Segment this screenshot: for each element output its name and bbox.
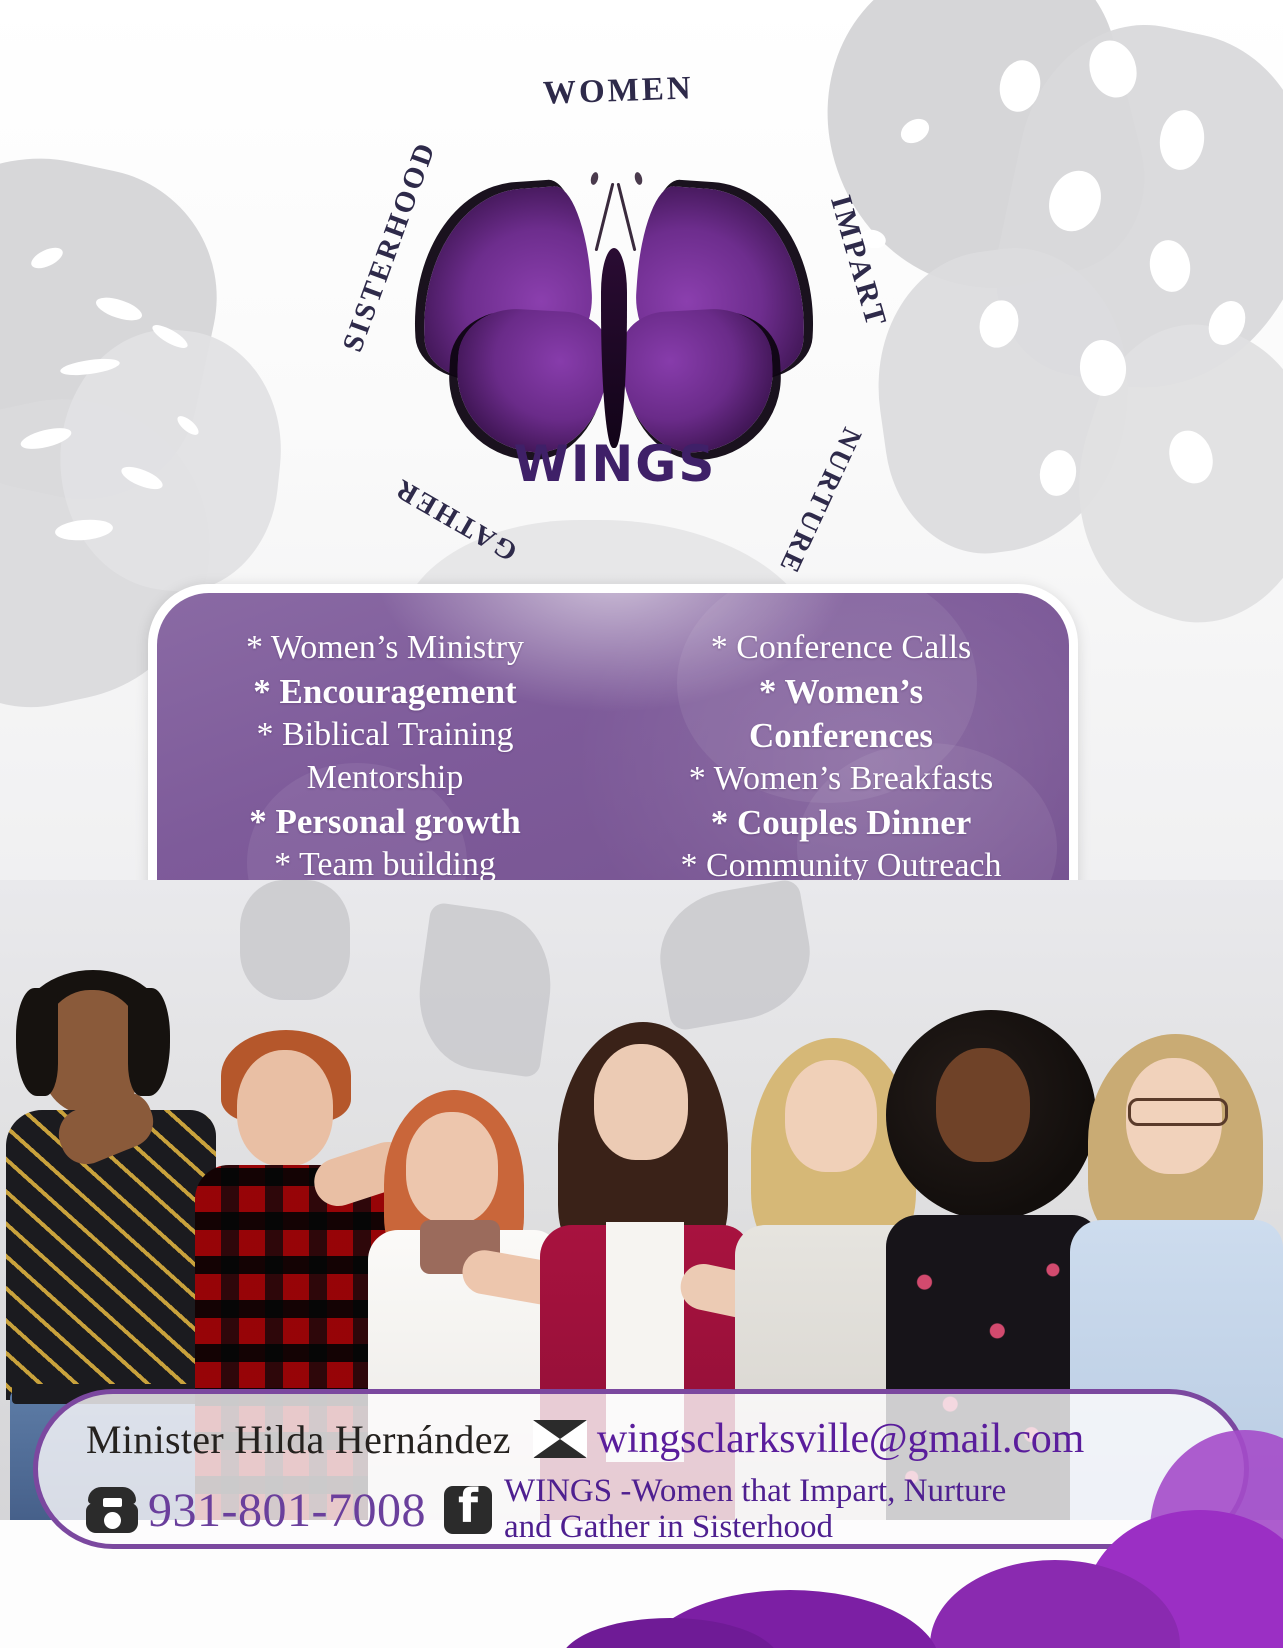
service-item: * Personal growth — [157, 800, 613, 844]
email-address[interactable]: wingsclarksville@gmail.com — [597, 1415, 1084, 1463]
service-item: Conferences — [613, 714, 1069, 758]
phone-number[interactable]: 931-801-7008 — [148, 1483, 426, 1538]
flyer-canvas: WOMEN IMPART NURTURE GATHER SISTERHOOD W… — [0, 0, 1283, 1648]
butterfly-icon — [415, 190, 815, 450]
envelope-icon — [533, 1420, 587, 1458]
service-item: * Conference Calls — [613, 627, 1069, 670]
facebook-line-1: WINGS -Women that Impart, Nurture — [504, 1473, 1006, 1509]
service-item: * Encouragement — [157, 670, 613, 714]
background-butterfly-wing — [976, 3, 1283, 418]
telephone-icon — [86, 1487, 138, 1533]
service-item: Mentorship — [157, 757, 613, 800]
minister-name: Minister Hilda Hernández — [86, 1416, 511, 1463]
service-item: * Women’s — [613, 670, 1069, 714]
service-item: * Couples Dinner — [613, 801, 1069, 845]
facebook-icon[interactable] — [444, 1486, 492, 1534]
background-butterfly-wing — [1041, 300, 1283, 650]
service-item: * Women’s Breakfasts — [613, 758, 1069, 801]
service-item: * Biblical Training — [157, 714, 613, 757]
background-butterfly-wing — [0, 129, 241, 520]
service-item: * Women’s Ministry — [157, 627, 613, 670]
facebook-line-2: and Gather in Sisterhood — [504, 1509, 833, 1545]
eyeglasses-icon — [1128, 1098, 1228, 1126]
background-butterfly-wing — [47, 319, 293, 601]
contact-row-top: Minister Hilda Hernández wingsclarksvill… — [86, 1408, 1204, 1470]
logo-word-women: WOMEN — [542, 70, 694, 112]
wings-logo: WOMEN IMPART NURTURE GATHER SISTERHOOD W… — [285, 35, 945, 595]
logo-brand-text: WINGS — [285, 435, 945, 493]
facebook-page-name: WINGS -Women that Impart, Nurture and Ga… — [504, 1474, 1006, 1545]
logo-word-impart: IMPART — [823, 192, 893, 332]
contact-row-bottom: 931-801-7008 WINGS -Women that Impart, N… — [86, 1472, 1204, 1548]
contact-bar: Minister Hilda Hernández wingsclarksvill… — [33, 1389, 1249, 1549]
